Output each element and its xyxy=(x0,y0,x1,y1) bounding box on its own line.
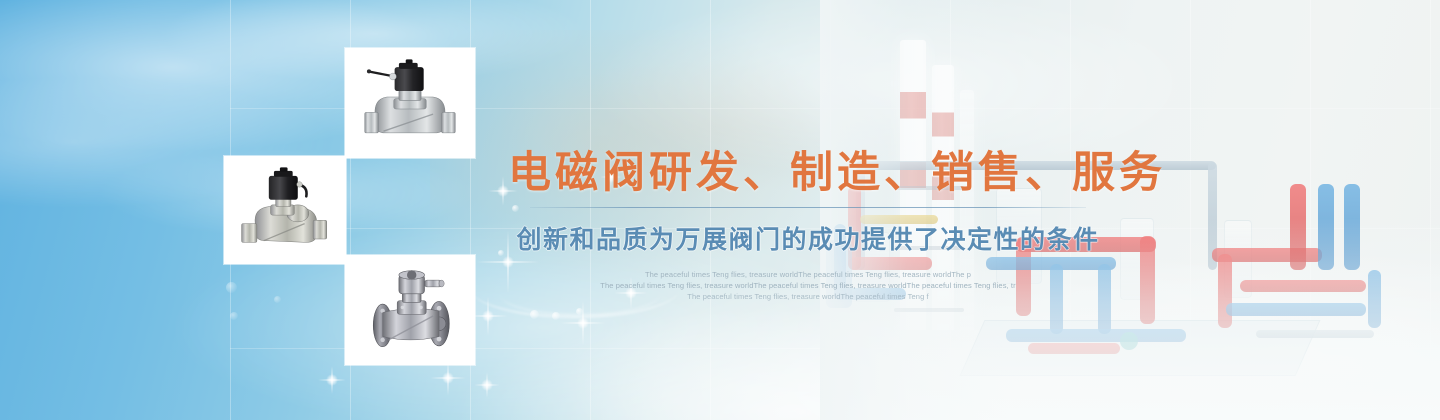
valve-wheel xyxy=(1120,332,1138,350)
product-thumbnail-3[interactable] xyxy=(345,255,475,365)
page-subtitle: 创新和品质为万展阀门的成功提供了决定性的条件 xyxy=(508,220,1108,256)
pipe-red-tall xyxy=(1290,184,1306,270)
blurb-line: The peaceful times Teng flies, treasure … xyxy=(508,280,1108,291)
product-image-solenoid-valve-threaded-angled xyxy=(232,164,338,256)
product-image-solenoid-valve-flanged xyxy=(353,263,467,357)
hero-banner: 电磁阀研发、制造、销售、服务 创新和品质为万展阀门的成功提供了决定性的条件 Th… xyxy=(0,0,1440,420)
pipe-blue-header xyxy=(1226,303,1366,316)
pipe-gray-lower xyxy=(1256,330,1374,338)
pipe-blue-tall xyxy=(1318,184,1334,270)
pipe-blue-riser xyxy=(1368,270,1381,328)
page-title: 电磁阀研发、制造、销售、服务 xyxy=(508,150,1108,196)
blurb-line: The peaceful times Teng flies, treasure … xyxy=(508,291,1108,302)
stack-platform-band xyxy=(894,308,964,312)
title-divider xyxy=(530,207,1086,208)
product-thumbnail-1[interactable] xyxy=(345,48,475,158)
blurb-text: The peaceful times Teng flies, treasure … xyxy=(508,269,1108,302)
pipe-blue-lower xyxy=(1006,329,1186,342)
product-thumbnail-2[interactable] xyxy=(224,156,346,264)
blurb-line: The peaceful times Teng flies, treasure … xyxy=(508,269,1108,280)
pipe-red-lower xyxy=(1028,343,1120,354)
headline-block: 电磁阀研发、制造、销售、服务 创新和品质为万展阀门的成功提供了决定性的条件 Th… xyxy=(508,150,1108,302)
pipe-red-mid xyxy=(1240,280,1366,292)
product-image-solenoid-valve-threaded-large xyxy=(353,56,467,150)
pipe-red-riser xyxy=(1218,254,1232,328)
pipe-blue-tall xyxy=(1344,184,1360,270)
pipe-red-riser xyxy=(1140,236,1155,324)
